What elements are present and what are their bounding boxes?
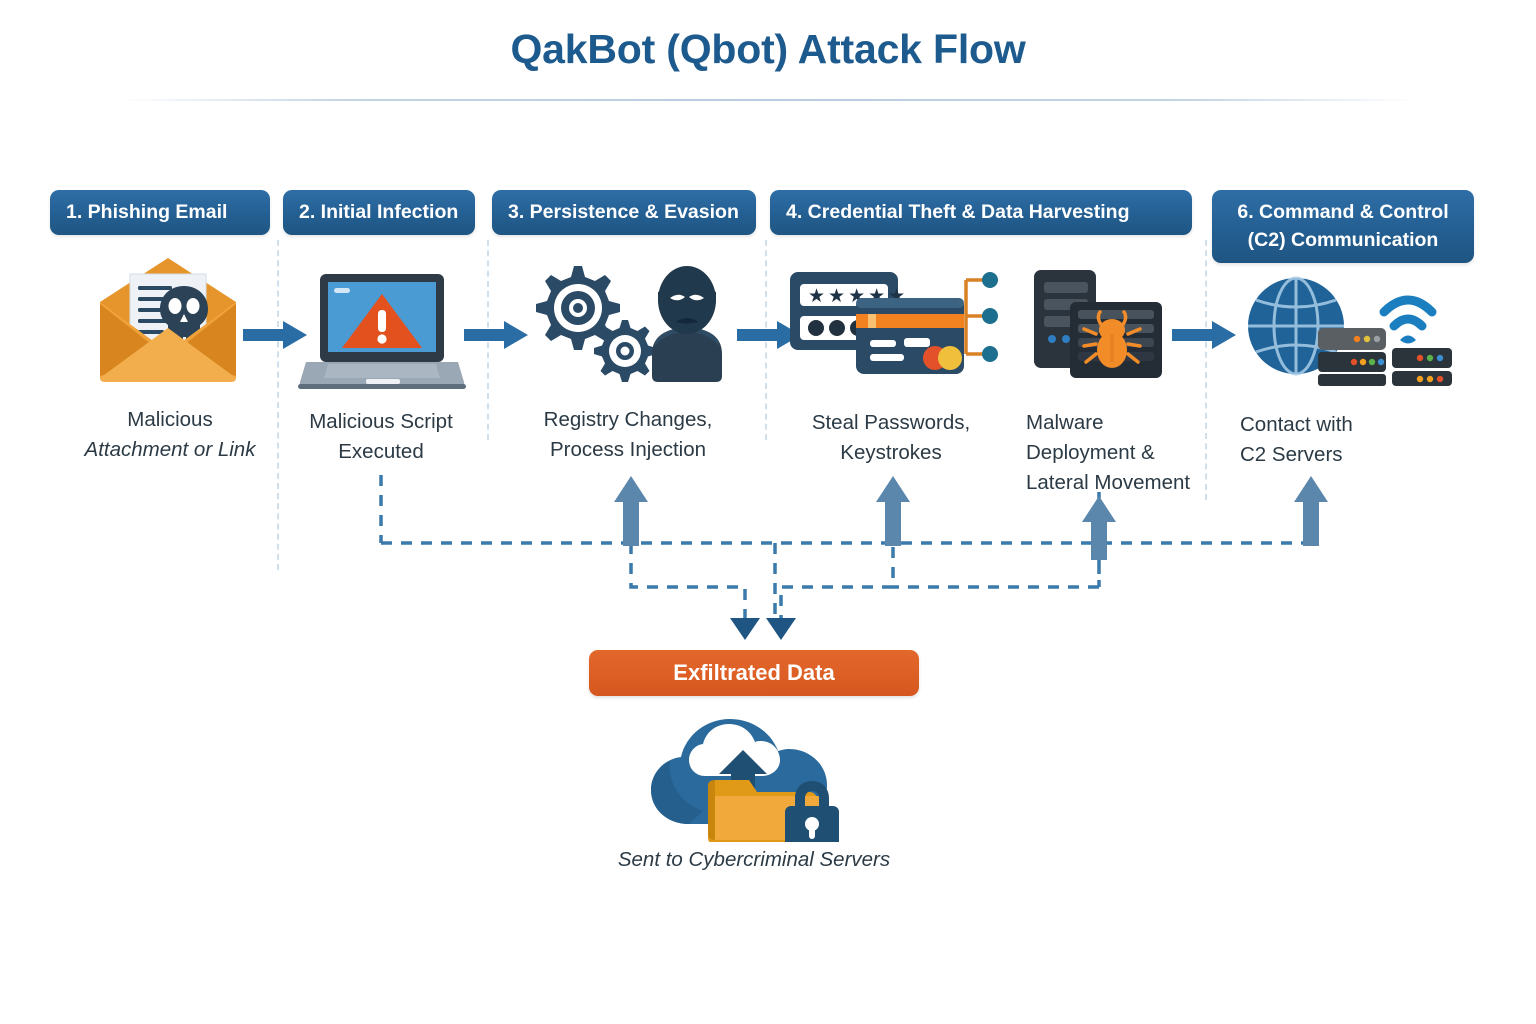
stage-6-header: 6. Command & Control (C2) Communication: [1212, 190, 1474, 263]
stage-6-header-line2: (C2) Communication: [1228, 226, 1458, 254]
exfiltration-routing: [0, 430, 1536, 680]
stage-3-persistence-evasion[interactable]: 3. Persistence & Evasion: [492, 190, 756, 235]
cloud-folder-lock-icon: [645, 706, 865, 842]
exfiltrated-data-label: Exfiltrated Data: [673, 660, 834, 686]
flow-arrow-2-3: [464, 320, 530, 346]
title-divider: [118, 99, 1418, 101]
server-bug-icon: [1018, 268, 1168, 380]
exfiltrated-data-caption: Sent to Cybercriminal Servers: [529, 848, 979, 872]
laptop-warning-icon: [298, 272, 466, 390]
globe-servers-wifi-icon: [1244, 270, 1460, 386]
stage-2-initial-infection[interactable]: 2. Initial Infection: [283, 190, 475, 235]
stage-3-header: 3. Persistence & Evasion: [492, 190, 756, 235]
envelope-skull-icon: [88, 256, 248, 386]
password-creditcard-icon: ★★★★★: [788, 268, 1002, 380]
stage-6-command-control[interactable]: 6. Command & Control (C2) Communication: [1212, 190, 1474, 263]
page-title: QakBot (Qbot) Attack Flow: [0, 26, 1536, 73]
diagram-canvas: QakBot (Qbot) Attack Flow 1. Phishing Em…: [0, 0, 1536, 1024]
flow-arrow-5-6: [1172, 320, 1238, 346]
stage-1-phishing-email[interactable]: 1. Phishing Email: [50, 190, 270, 235]
stage-2-header: 2. Initial Infection: [283, 190, 475, 235]
stage-1-header: 1. Phishing Email: [50, 190, 270, 235]
stage-4-header: 4. Credential Theft & Data Harvesting: [770, 190, 1192, 235]
stage-4-credential-theft[interactable]: 4. Credential Theft & Data Harvesting: [770, 190, 1192, 235]
stage-6-header-line1: 6. Command & Control: [1228, 198, 1458, 226]
exfiltrated-data-box[interactable]: Exfiltrated Data: [589, 650, 919, 696]
gears-hacker-icon: [524, 258, 724, 388]
